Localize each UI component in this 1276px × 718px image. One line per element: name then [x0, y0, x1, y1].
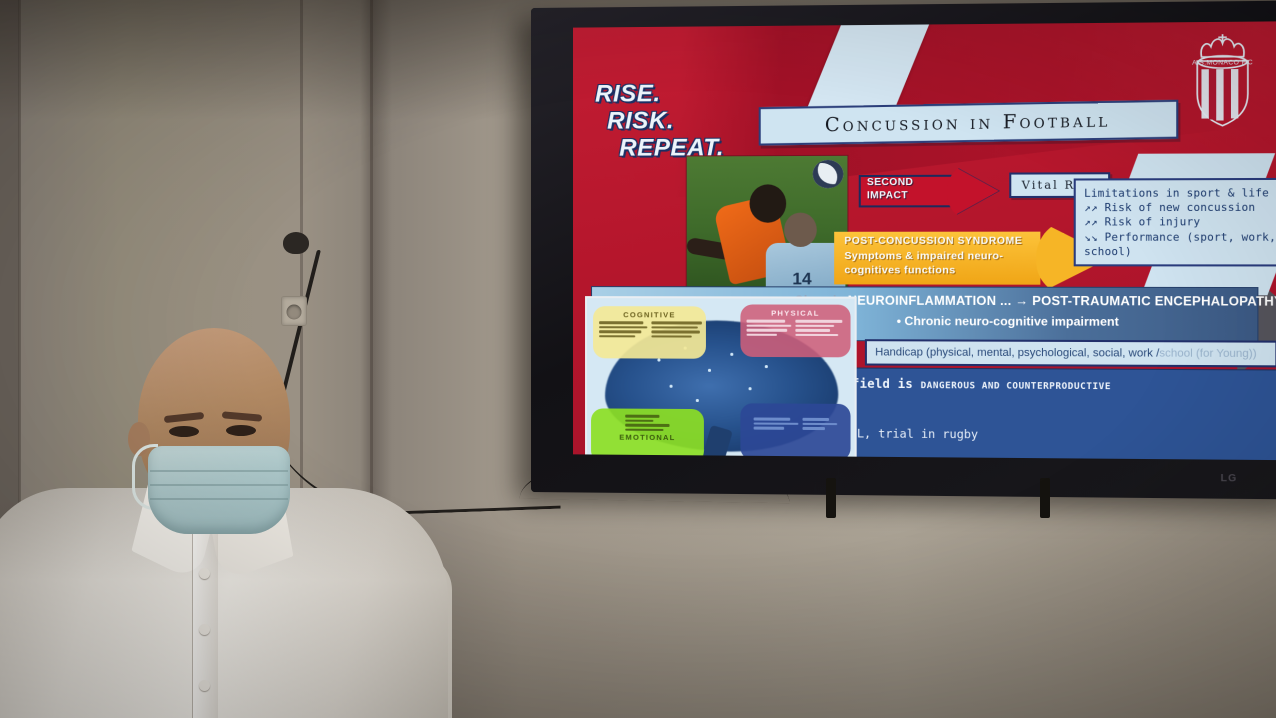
limitations-item: school) — [1084, 245, 1276, 260]
category-cognitive: COGNITIVE — [593, 306, 706, 359]
second-impact-label: SECOND IMPACT — [867, 177, 913, 202]
chronic-line-2: • Chronic neuro-cognitive impairment — [897, 314, 1119, 329]
presenter-eye — [226, 425, 256, 436]
tv-screen: RISE. RISK. REPEAT. Concussion in Footba… — [573, 21, 1276, 460]
as-monaco-crest-icon: A.S.MONACO F.C — [1178, 30, 1267, 131]
post-concussion-text: Symptoms & impaired neuro- cognitives fu… — [844, 250, 1003, 278]
shirt-button — [199, 624, 210, 635]
chronic-main-text: NEUROINFLAMMATION ... → POST-TRAUMATIC E… — [848, 294, 1276, 309]
post-concussion-heading: POST-CONCUSSION SYNDROME — [844, 236, 1022, 247]
category-label: EMOTIONAL — [597, 432, 698, 442]
slide-title-bar: Concussion in Football — [759, 100, 1179, 146]
face-mask — [148, 446, 290, 534]
photo-football-icon — [813, 160, 844, 188]
presenter-eye — [169, 426, 199, 437]
slide-tagline: RISE. RISK. REPEAT. — [595, 81, 724, 163]
slide-title: Concussion in Football — [825, 109, 1110, 136]
post-concussion-arrow: POST-CONCUSSION SYNDROME Symptoms & impa… — [834, 223, 1111, 295]
handicap-text: Handicap (physical, mental, psychologica… — [875, 346, 1159, 359]
category-physical: PHYSICAL — [740, 304, 850, 357]
shirt-button — [199, 568, 210, 579]
second-impact-line-1: SECOND — [867, 177, 913, 190]
face-mask-fold — [150, 470, 288, 472]
category-sleep — [740, 403, 850, 460]
face-mask-fold — [150, 484, 288, 486]
chronic-line-1: Chronic NEUROINFLAMMATION ... → POST-TRA… — [794, 293, 1276, 308]
limitations-item: ↗↗ Risk of injury — [1084, 215, 1276, 230]
arrow-head — [947, 162, 999, 219]
presenter — [0, 318, 480, 718]
photo-head — [750, 184, 787, 222]
limitations-box: Limitations in sport & life ↗↗ Risk of n… — [1074, 178, 1276, 267]
leaving-lead-small: DANGEROUS AND COUNTERPRODUCTIVE — [921, 381, 1111, 392]
second-impact-arrow: SECOND IMPACT — [859, 162, 999, 219]
handicap-box: Handicap (physical, mental, psychologica… — [865, 339, 1276, 367]
tv-wall-mount — [1040, 478, 1050, 518]
post-concussion-line-2: cognitives functions — [844, 264, 1003, 278]
limitations-item: ↘↘ Performance (sport, work, — [1084, 230, 1276, 245]
photo-head — [784, 213, 817, 247]
tagline-line-1: RISE. — [595, 81, 724, 109]
tv-brand-logo: LG — [1221, 473, 1238, 484]
category-label: PHYSICAL — [747, 308, 845, 317]
category-label: COGNITIVE — [599, 310, 700, 319]
presentation-slide: RISE. RISK. REPEAT. Concussion in Footba… — [573, 21, 1276, 460]
television: LG RISE. RISK. REPEAT. Concussion in Foo… — [531, 0, 1276, 499]
limitations-item: ↗↗ Risk of new concussion — [1084, 201, 1276, 216]
brain-symptoms-diagram: COGNITIVE PHYSICAL — [585, 296, 857, 460]
second-impact-line-2: IMPACT — [867, 190, 913, 203]
post-concussion-line-1: Symptoms & impaired neuro- — [844, 250, 1003, 264]
shirt-button — [199, 680, 210, 691]
limitations-heading: Limitations in sport & life — [1084, 186, 1276, 201]
collision-photo: 14 — [686, 155, 849, 293]
svg-text:A.S.MONACO F.C: A.S.MONACO F.C — [1192, 59, 1253, 67]
category-emotional: EMOTIONAL — [591, 408, 704, 460]
room-scene: LG RISE. RISK. REPEAT. Concussion in Foo… — [0, 0, 1276, 718]
tagline-line-2: RISK. — [607, 108, 724, 136]
face-mask-fold — [150, 498, 288, 500]
power-plug — [283, 232, 309, 254]
handicap-dim-tail: school (for Young)) — [1159, 347, 1256, 360]
tv-wall-mount — [826, 478, 836, 518]
